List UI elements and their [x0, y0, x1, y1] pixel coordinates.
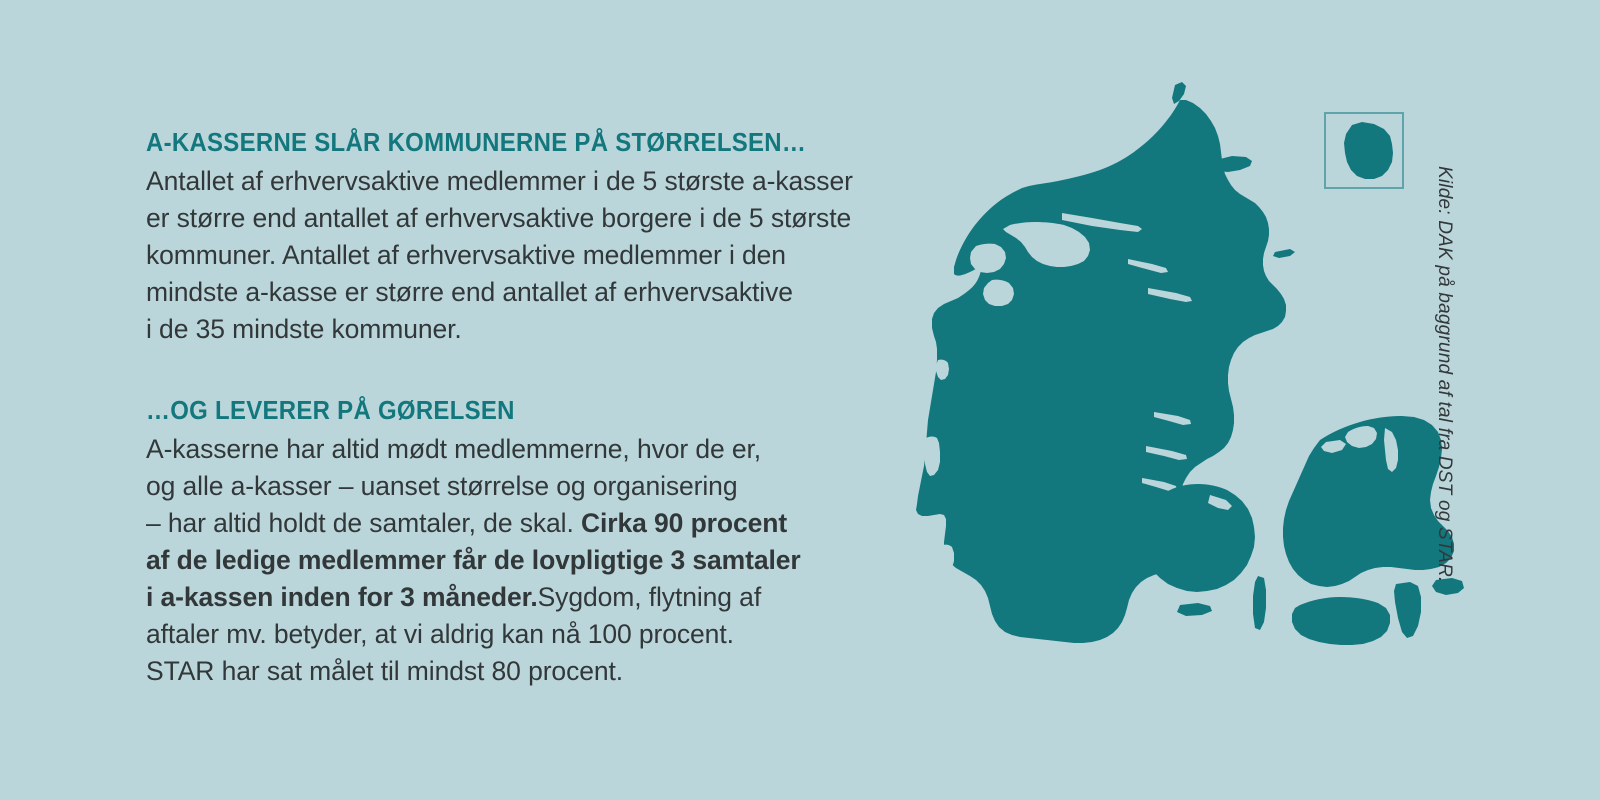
- text-block-size: A-KASSERNE SLÅR KOMMUNERNE PÅ STØRRELSEN…: [146, 128, 906, 348]
- source-credit: Kilde: DAK på baggrund af tal fra DST og…: [1433, 166, 1455, 626]
- body-paragraph-size: Antallet af erhvervsaktive medlemmer i d…: [146, 163, 906, 348]
- body-line: er større end antallet af erhvervsaktive…: [146, 200, 906, 237]
- heading-og-leverer: …OG LEVERER PÅ GØRELSEN: [146, 396, 860, 426]
- body-line: kommuner. Antallet af erhvervsaktive med…: [146, 237, 906, 274]
- text-column: A-KASSERNE SLÅR KOMMUNERNE PÅ STØRRELSEN…: [146, 128, 906, 690]
- body-line: mindste a-kasse er større end antallet a…: [146, 274, 906, 311]
- denmark-map-svg: [880, 60, 1500, 720]
- body-line: STAR har sat målet til mindst 80 procent…: [146, 653, 906, 690]
- denmark-map: [880, 60, 1500, 720]
- body-text-plain: Sygdom, flytning af: [538, 582, 761, 612]
- bornholm-island: [1344, 122, 1393, 179]
- body-text-bold: Cirka 90 procent: [581, 508, 787, 538]
- langeland-island: [1253, 576, 1266, 630]
- body-text-plain: – har altid holdt de samtaler, de skal.: [146, 508, 581, 538]
- lolland-island: [1292, 597, 1390, 645]
- body-text-bold: i a-kassen inden for 3 måneder.: [146, 582, 538, 612]
- body-line: A-kasserne har altid mødt medlemmerne, h…: [146, 431, 906, 468]
- body-line: aftaler mv. betyder, at vi aldrig kan nå…: [146, 616, 906, 653]
- body-line-mixed: – har altid holdt de samtaler, de skal. …: [146, 505, 906, 542]
- aeroe-island: [1177, 603, 1212, 616]
- south-jutland-inlet: [938, 545, 954, 572]
- body-line: i de 35 mindste kommuner.: [146, 311, 906, 348]
- infographic-canvas: A-KASSERNE SLÅR KOMMUNERNE PÅ STØRRELSEN…: [0, 0, 1600, 800]
- body-line: og alle a-kasser – uanset størrelse og o…: [146, 468, 906, 505]
- body-paragraph-delivery: A-kasserne har altid mødt medlemmerne, h…: [146, 431, 906, 690]
- anholt-island: [1273, 249, 1295, 258]
- falster-island: [1394, 582, 1421, 638]
- text-block-delivery: …OG LEVERER PÅ GØRELSEN A-kasserne har a…: [146, 396, 906, 690]
- body-line-mixed: i a-kassen inden for 3 måneder.Sygdom, f…: [146, 579, 906, 616]
- limfjord-water-south: [983, 280, 1014, 306]
- body-text-bold: af de ledige medlemmer får de lovpligtig…: [146, 545, 801, 575]
- heading-a-kasserne-slaar: A-KASSERNE SLÅR KOMMUNERNE PÅ STØRRELSEN…: [146, 128, 860, 158]
- funen-island: [1141, 484, 1255, 592]
- body-line: Antallet af erhvervsaktive medlemmer i d…: [146, 163, 906, 200]
- body-line-bold: af de ledige medlemmer får de lovpligtig…: [146, 542, 906, 579]
